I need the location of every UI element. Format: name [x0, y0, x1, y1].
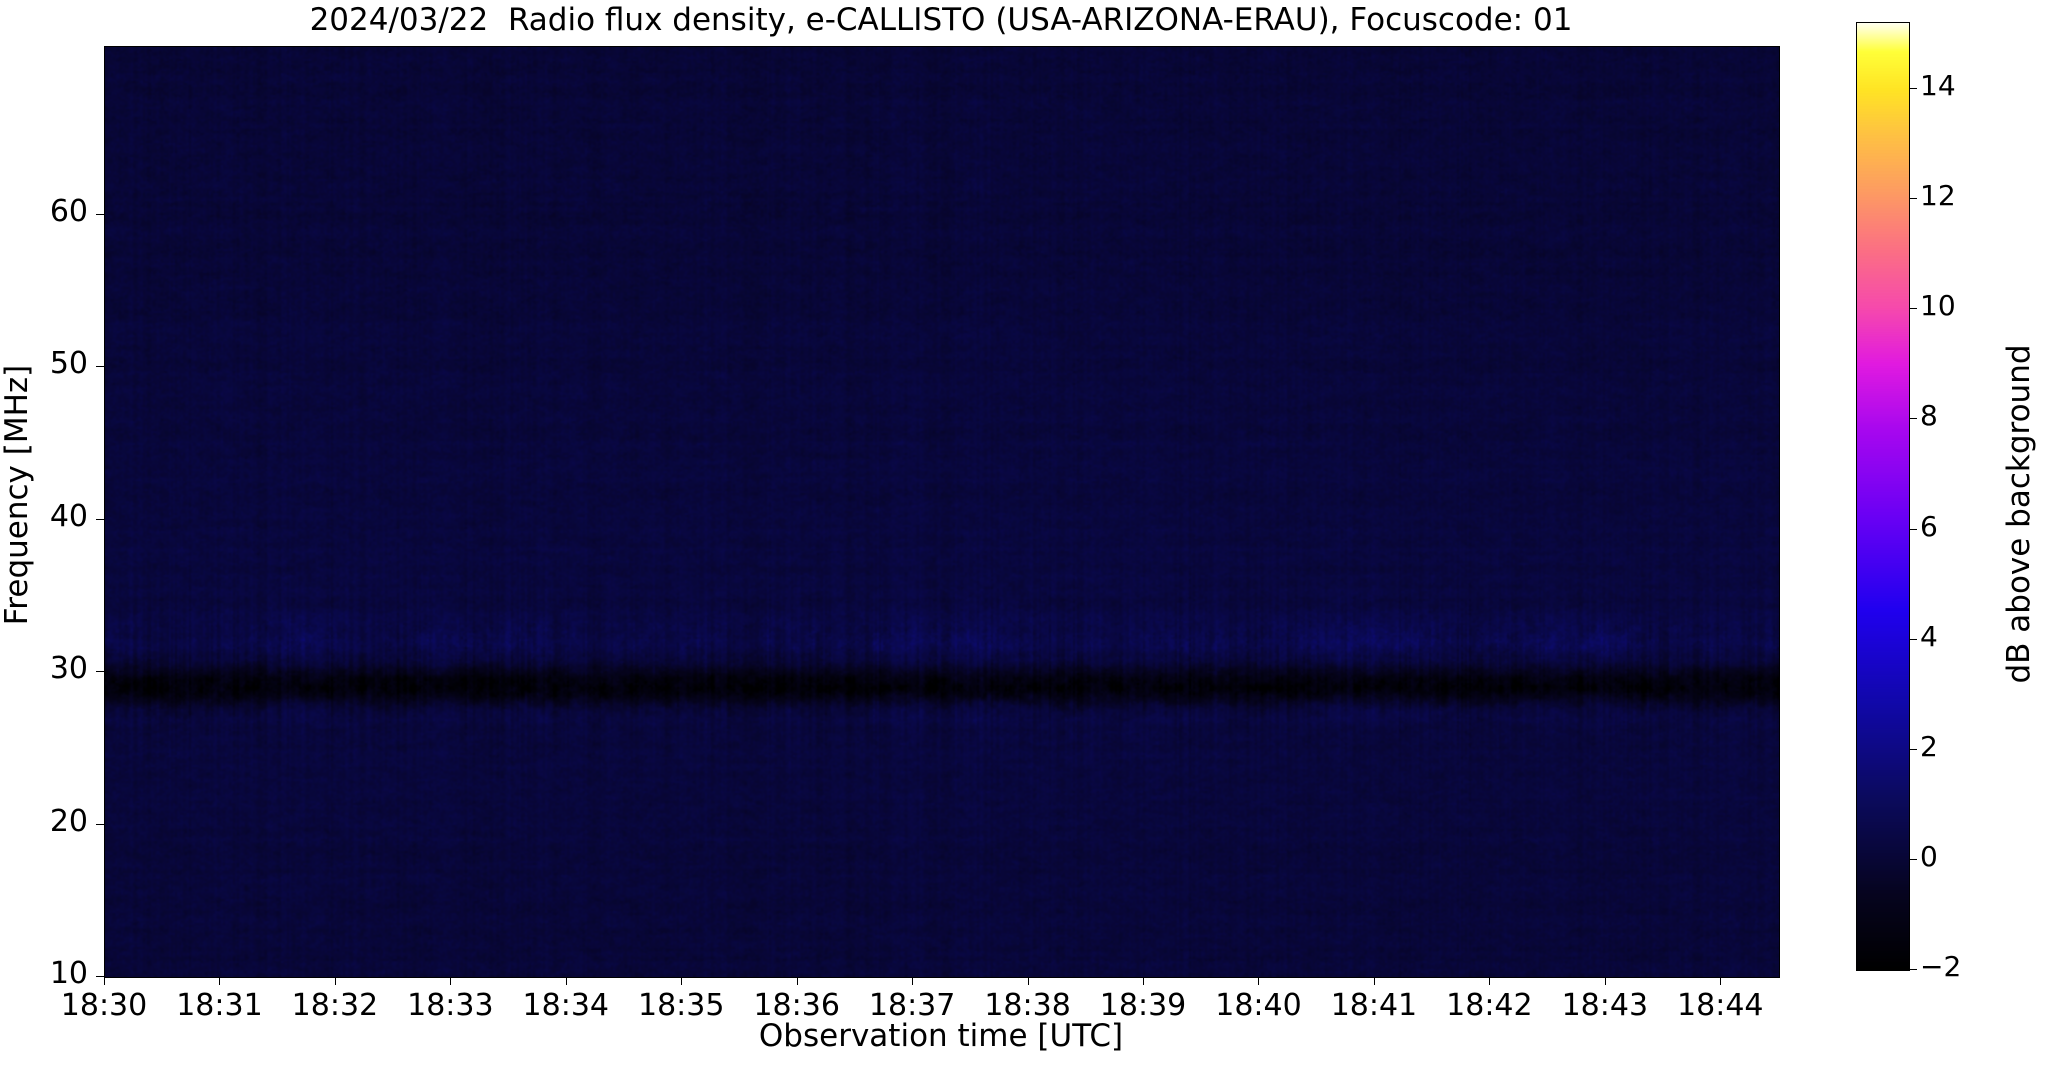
x-tick-mark	[450, 977, 451, 985]
y-tick-label: 20	[18, 804, 88, 839]
x-tick-mark	[219, 977, 220, 985]
colorbar-tick-mark	[1910, 969, 1917, 970]
spectrogram-image	[105, 47, 1779, 977]
y-tick-label: 10	[18, 956, 88, 991]
x-tick-mark	[1028, 977, 1029, 985]
x-tick-mark	[1258, 977, 1259, 985]
colorbar-tick-mark	[1910, 529, 1917, 530]
y-tick-mark	[96, 671, 104, 672]
colorbar-tick-mark	[1910, 308, 1917, 309]
colorbar-tick-mark	[1910, 859, 1917, 860]
x-tick-mark	[104, 977, 105, 985]
y-tick-mark	[96, 976, 104, 977]
x-tick-mark	[797, 977, 798, 985]
page-title: 2024/03/22 Radio flux density, e-CALLIST…	[104, 2, 1778, 38]
colorbar-tick-mark	[1910, 749, 1917, 750]
colorbar-tick-mark	[1910, 88, 1917, 89]
x-tick-mark	[1720, 977, 1721, 985]
colorbar[interactable]	[1856, 22, 1910, 971]
colorbar-tick-label: 12	[1920, 179, 2000, 212]
y-axis-label: Frequency [MHz]	[0, 145, 35, 845]
spectrogram-figure: 2024/03/22 Radio flux density, e-CALLIST…	[0, 0, 2047, 1067]
x-tick-mark	[1374, 977, 1375, 985]
x-tick-mark	[681, 977, 682, 985]
y-tick-label: 60	[18, 194, 88, 229]
colorbar-tick-label: 8	[1920, 399, 2000, 432]
colorbar-tick-label: 14	[1920, 69, 2000, 102]
x-tick-mark	[1605, 977, 1606, 985]
y-tick-mark	[96, 366, 104, 367]
x-tick-mark	[335, 977, 336, 985]
colorbar-tick-label: −2	[1920, 950, 2000, 983]
x-tick-label: 18:44	[1640, 988, 1800, 1023]
x-tick-mark	[1143, 977, 1144, 985]
y-tick-label: 40	[18, 499, 88, 534]
y-tick-mark	[96, 519, 104, 520]
colorbar-tick-label: 4	[1920, 620, 2000, 653]
x-tick-mark	[1489, 977, 1490, 985]
x-axis-label: Observation time [UTC]	[104, 1018, 1778, 1054]
x-tick-mark	[566, 977, 567, 985]
colorbar-tick-mark	[1910, 639, 1917, 640]
colorbar-label: dB above background	[2001, 194, 2037, 834]
y-tick-mark	[96, 214, 104, 215]
colorbar-tick-mark	[1910, 198, 1917, 199]
y-tick-label: 50	[18, 346, 88, 381]
spectrogram-axes[interactable]	[104, 46, 1780, 978]
colorbar-tick-label: 10	[1920, 289, 2000, 322]
x-tick-mark	[912, 977, 913, 985]
y-tick-mark	[96, 824, 104, 825]
colorbar-tick-label: 6	[1920, 510, 2000, 543]
y-tick-label: 30	[18, 651, 88, 686]
colorbar-tick-label: 0	[1920, 840, 2000, 873]
colorbar-gradient	[1857, 23, 1909, 970]
colorbar-tick-mark	[1910, 418, 1917, 419]
colorbar-tick-label: 2	[1920, 730, 2000, 763]
